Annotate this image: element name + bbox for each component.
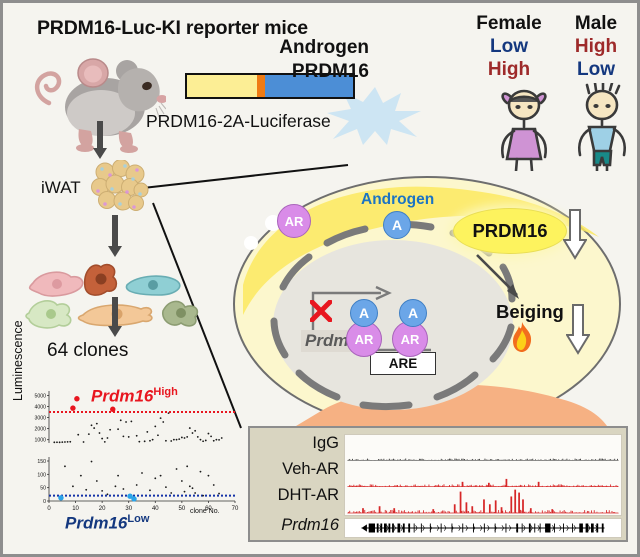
svg-text:0: 0 (43, 499, 46, 505)
svg-text:150: 150 (37, 459, 46, 465)
male-header: Male (555, 13, 637, 35)
svg-text:10: 10 (72, 506, 79, 512)
adipose-tissue-icon (91, 160, 149, 212)
svg-text:50: 50 (40, 486, 46, 492)
genome-track-area (344, 434, 622, 516)
svg-text:4000: 4000 (34, 404, 46, 410)
prdm16-low-annotation: Prdm16Low (65, 513, 149, 534)
svg-text:5000: 5000 (34, 393, 46, 399)
ar-bound-label-1: AR (355, 332, 374, 347)
female-prdm16-value: High (468, 58, 550, 81)
svg-text:2000: 2000 (34, 427, 46, 433)
prdm16-oval-text: PRDM16 (472, 220, 547, 242)
svg-text:1000: 1000 (34, 438, 46, 444)
female-androgen-value: Low (468, 35, 550, 58)
genome-browser-panel: IgG Veh-AR DHT-AR Prdm16 (248, 426, 628, 542)
track-label-prdm16-gene: Prdm16 (250, 516, 342, 535)
arrow-mouse-to-iwat (93, 121, 107, 159)
beiging-label: Beiging (496, 301, 564, 323)
ar-molecule-label: AR (285, 214, 304, 229)
are-label: ARE (389, 356, 418, 371)
prdm16-low-sup: Low (127, 513, 149, 525)
genome-track-signal (345, 435, 621, 515)
ar-molecule-free: AR (277, 204, 311, 238)
svg-text:30: 30 (125, 506, 132, 512)
red-x-icon (310, 300, 332, 322)
arrow-cells-to-clones (108, 297, 122, 337)
female-column: Female Low High (468, 13, 550, 81)
male-prdm16-value: Low (555, 58, 637, 81)
down-arrow-icon-beiging (566, 303, 590, 355)
female-figure-icon (493, 85, 555, 171)
androgen-molecule-label: A (392, 217, 402, 233)
chart-x-axis-label: clone No. (190, 508, 220, 515)
androgen-bound-label-2: A (408, 305, 418, 321)
androgen-bound-label-1: A (359, 305, 369, 321)
construct-segment-2a (257, 75, 265, 97)
androgen-molecule-bound-1: A (350, 299, 378, 327)
prdm16-high-sup: High (153, 386, 177, 398)
figure-canvas: PRDM16-Luc-KI reporter mice PRDM16-2A-Lu… (0, 0, 640, 557)
androgen-molecule-bound-2: A (399, 299, 427, 327)
svg-text:3000: 3000 (34, 416, 46, 422)
prdm16-output-label: PRDM16 (453, 208, 567, 254)
svg-text:20: 20 (99, 506, 106, 512)
svg-text:40: 40 (152, 506, 159, 512)
male-figure-icon (571, 83, 633, 171)
gene-model-area (344, 518, 622, 538)
prdm16-low-text: Prdm16 (65, 514, 127, 533)
svg-text:0: 0 (47, 506, 51, 512)
arrow-iwat-to-cells (108, 215, 122, 257)
track-label-veh-ar: Veh-AR (250, 460, 342, 479)
svg-text:50: 50 (179, 506, 186, 512)
ar-bound-label-2: AR (401, 332, 420, 347)
androgen-label: Androgen (361, 191, 434, 209)
androgen-row-label: Androgen (279, 37, 369, 59)
male-column: Male High Low (555, 13, 637, 81)
gene-model-track (345, 519, 621, 537)
down-arrow-icon-prdm16 (563, 208, 587, 260)
track-label-igg: IgG (250, 434, 342, 453)
male-androgen-value: High (555, 35, 637, 58)
construct-segment-prdm16 (187, 75, 257, 97)
prdm16-high-annotation: Prdm16High (91, 386, 178, 407)
iwat-label: iWAT (41, 178, 81, 198)
prdm16-high-text: Prdm16 (91, 387, 153, 406)
svg-text:70: 70 (232, 506, 239, 512)
female-header: Female (468, 13, 550, 35)
prdm16-row-label: PRDM16 (292, 61, 369, 83)
svg-text:100: 100 (37, 472, 46, 478)
construct-label: PRDM16-2A-Luciferase (146, 111, 331, 132)
androgen-molecule-free: A (383, 211, 411, 239)
arrow-prdm16-to-beiging (473, 251, 533, 307)
clones-count-label: 64 clones (47, 340, 128, 362)
flame-icon (509, 321, 535, 353)
track-label-dht-ar: DHT-AR (250, 486, 342, 505)
